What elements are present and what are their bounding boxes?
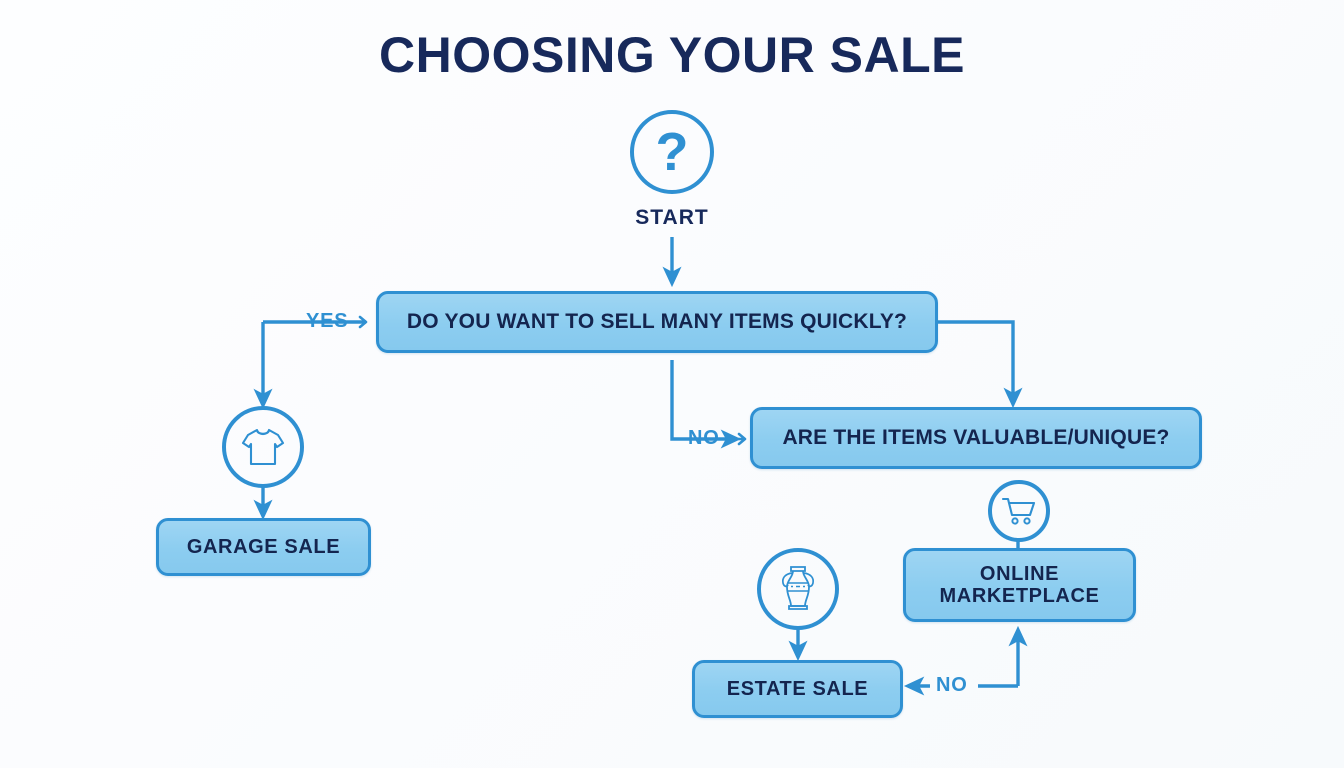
- vase-icon: [778, 564, 818, 614]
- decision-node-items-valuable[interactable]: ARE THE ITEMS VALUABLE/UNIQUE?: [750, 407, 1202, 469]
- flowchart-canvas: CHOOSING YOUR SALE: [0, 0, 1344, 768]
- yes-arrowhead-icon: [352, 313, 370, 331]
- no-arrowhead-icon: [731, 430, 749, 448]
- shopping-cart-icon-circle: [988, 480, 1050, 542]
- start-node-circle[interactable]: ?: [630, 110, 714, 194]
- edge-label-no-to-decision2: NO: [688, 427, 720, 450]
- page-title: CHOOSING YOUR SALE: [0, 26, 1344, 84]
- terminal-node-online-marketplace[interactable]: ONLINE MARKETPLACE: [903, 548, 1136, 622]
- wire-decision1-right-to-decision2: [938, 322, 1013, 404]
- shopping-cart-icon: [1001, 495, 1037, 527]
- decision-node-sell-many-items[interactable]: DO YOU WANT TO SELL MANY ITEMS QUICKLY?: [376, 291, 938, 353]
- tshirt-icon: [240, 426, 286, 468]
- edge-label-yes: YES: [306, 310, 348, 333]
- question-mark-icon: ?: [656, 125, 689, 179]
- terminal-node-garage-sale[interactable]: GARAGE SALE: [156, 518, 371, 576]
- vase-icon-circle: [757, 548, 839, 630]
- terminal-node-estate-sale[interactable]: ESTATE SALE: [692, 660, 903, 718]
- start-label: START: [592, 206, 752, 230]
- edge-label-no-to-estate: NO: [936, 674, 968, 697]
- tshirt-icon-circle: [222, 406, 304, 488]
